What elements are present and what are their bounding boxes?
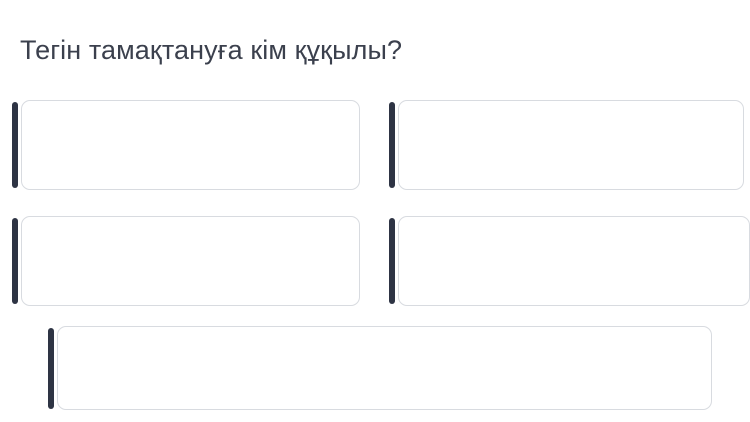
info-card-large-families[interactable]: АӘК алушылары болып табылатын, не жан ба…: [48, 326, 713, 410]
info-card-low-income-non-aak-families[interactable]: Жан басына шаққандағы орташа табысы ең т…: [389, 216, 749, 306]
card-body: [57, 326, 712, 410]
card-accent-bar: [12, 218, 18, 304]
slide-canvas: Тегін тамақтануға кім құқылы? Мүгедек ба…: [0, 0, 750, 422]
card-body: [21, 100, 360, 190]
page-title: Тегін тамақтануға кім құқылы?: [20, 33, 402, 67]
card-body: [21, 216, 360, 306]
card-body: [398, 216, 750, 306]
card-accent-bar: [389, 218, 395, 304]
card-body: [398, 100, 744, 190]
info-card-orphan-children[interactable]: Жетім балалар мен ата-анасының қамқорлығ…: [389, 100, 744, 190]
card-accent-bar: [389, 102, 395, 188]
info-card-disabled-children[interactable]: Мүгедек балалар, даму мүмкіндігі шектеул…: [12, 100, 360, 190]
card-accent-bar: [12, 102, 18, 188]
card-accent-bar: [48, 328, 54, 409]
info-card-aak-recipient-families[interactable]: Атаулы әлеуметтік көмек (АӘК) алушылар б…: [12, 216, 360, 306]
